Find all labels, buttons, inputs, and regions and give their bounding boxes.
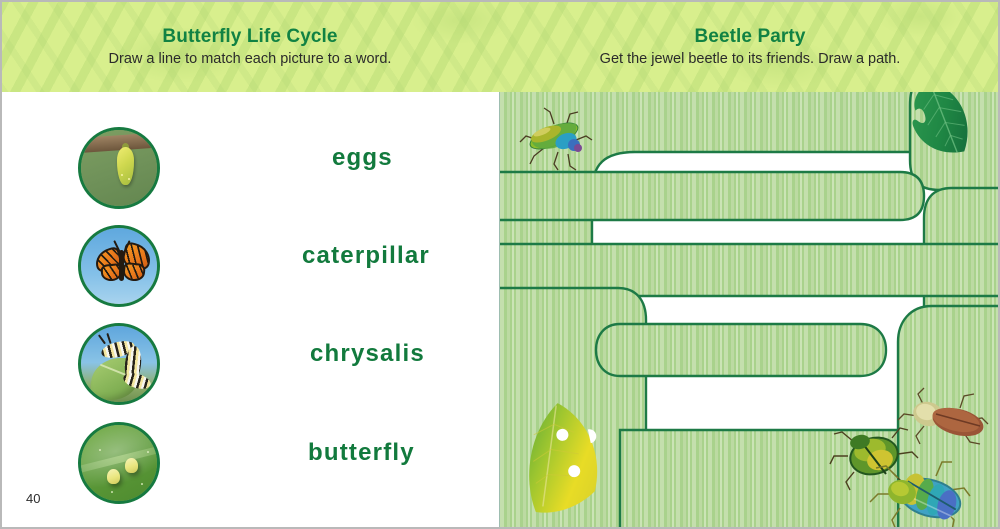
leaf-speck: [147, 451, 149, 453]
activity-book-spread: Butterfly Life Cycle Draw a line to matc…: [0, 0, 1000, 529]
left-activity-instruction: Draw a line to match each picture to a w…: [109, 51, 392, 67]
word-eggs[interactable]: eggs: [332, 144, 393, 172]
picture-caterpillar[interactable]: [78, 323, 160, 405]
left-page-header: Butterfly Life Cycle Draw a line to matc…: [0, 0, 500, 92]
word-chrysalis[interactable]: chrysalis: [310, 340, 425, 368]
leaf-speck: [111, 491, 113, 493]
butterfly-egg: [107, 469, 120, 484]
maze-graphic[interactable]: [500, 92, 998, 527]
butterfly-photo: [81, 228, 157, 304]
caterpillar-antenna: [106, 333, 111, 344]
right-page-maze: [500, 92, 998, 527]
left-page: eggs caterpillar chrysalis butterfly 40: [2, 92, 499, 527]
eggs-photo: [81, 425, 157, 501]
word-butterfly[interactable]: butterfly: [308, 439, 415, 467]
leaf-speck: [99, 449, 101, 451]
chrysalis-photo: [81, 130, 157, 206]
right-page-header: Beetle Party Get the jewel beetle to its…: [500, 0, 1000, 92]
right-activity-title: Beetle Party: [694, 26, 805, 48]
caterpillar-antenna: [98, 335, 106, 345]
picture-chrysalis[interactable]: [78, 127, 160, 209]
word-caterpillar[interactable]: caterpillar: [302, 242, 430, 270]
butterfly-right-hindwing: [122, 262, 146, 282]
picture-eggs[interactable]: [78, 422, 160, 504]
left-activity-title: Butterfly Life Cycle: [162, 26, 337, 48]
picture-butterfly[interactable]: [78, 225, 160, 307]
chrysalis-gold-dot: [121, 174, 123, 176]
butterfly-egg: [125, 458, 138, 473]
leaf-speck: [141, 483, 143, 485]
page-gutter: [499, 92, 500, 529]
chrysalis-body: [117, 147, 134, 185]
right-activity-instruction: Get the jewel beetle to its friends. Dra…: [600, 51, 901, 67]
chrysalis-gold-dot: [128, 178, 130, 180]
butterfly-body: [119, 250, 124, 281]
caterpillar-photo: [81, 326, 157, 402]
page-number: 40: [26, 491, 40, 506]
